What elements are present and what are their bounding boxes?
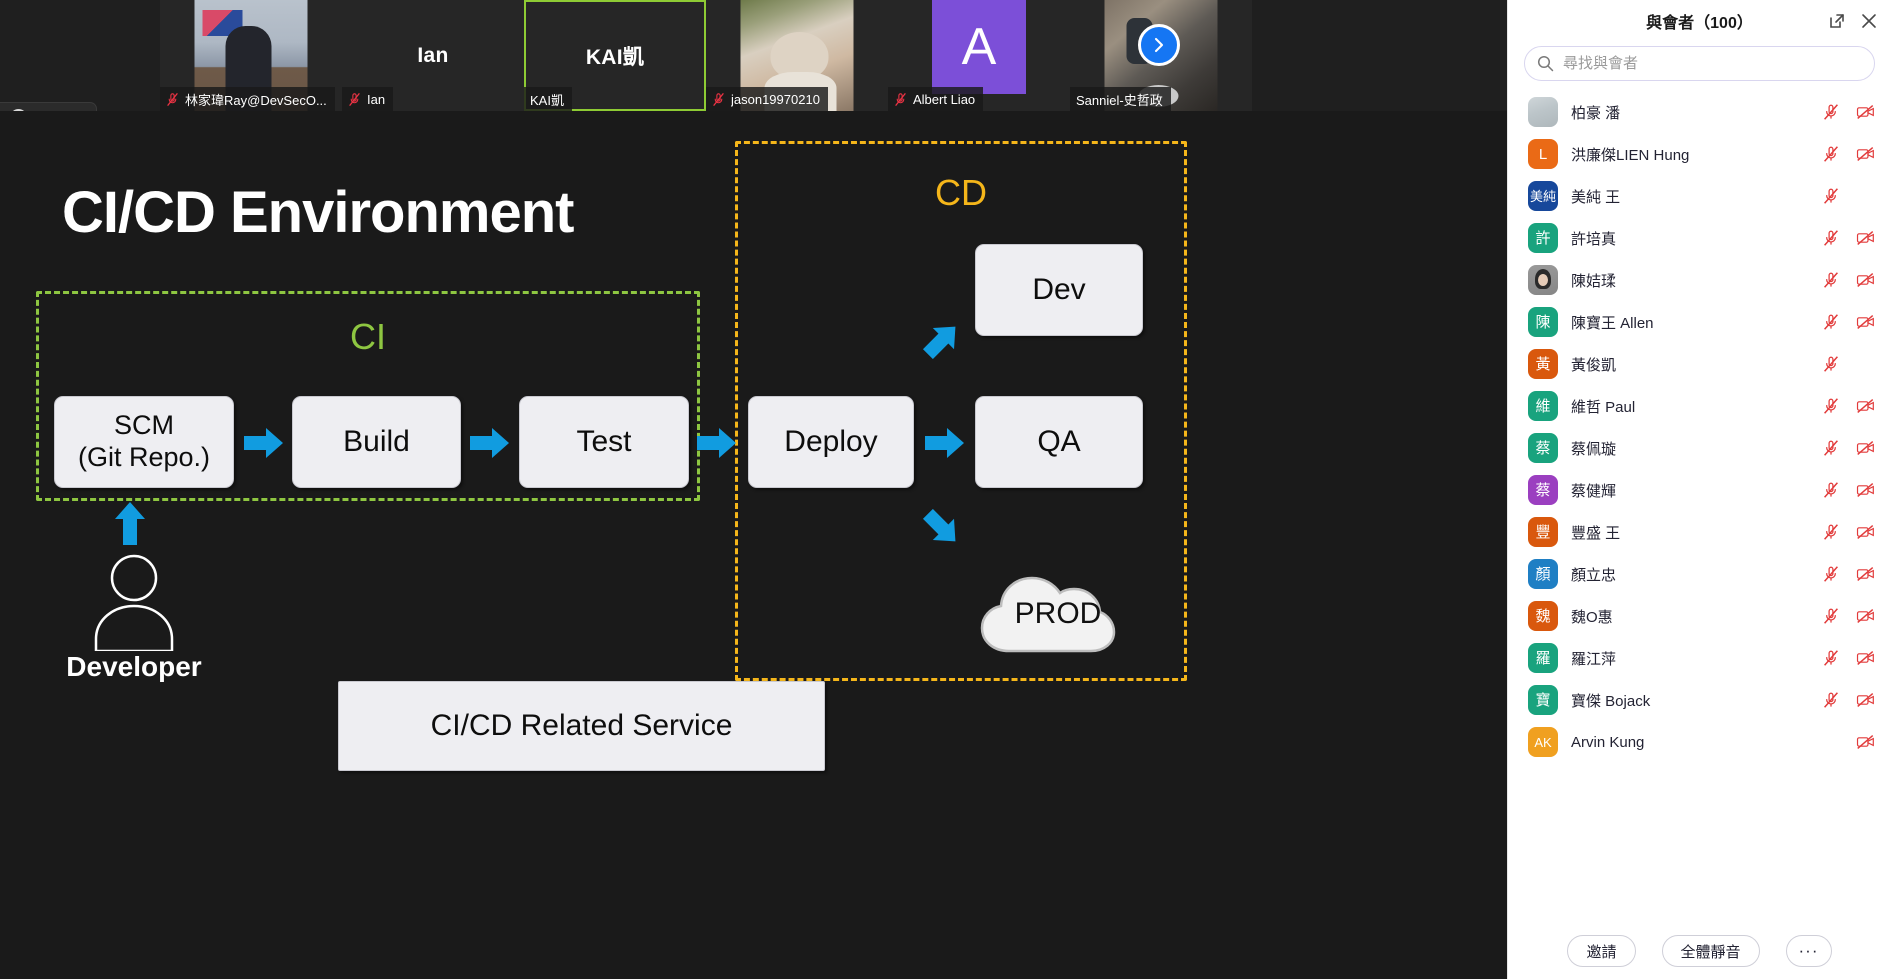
node-scm: SCM (Git Repo.) bbox=[54, 396, 234, 488]
mic-off-icon[interactable] bbox=[1821, 229, 1840, 248]
chevron-right-icon bbox=[1150, 36, 1168, 54]
popout-icon[interactable] bbox=[1827, 11, 1847, 31]
mic-off-icon[interactable] bbox=[1821, 187, 1840, 206]
participant-row[interactable]: 陳姞瑈 bbox=[1508, 259, 1891, 301]
participant-status-icons bbox=[1819, 565, 1875, 584]
thumbnail-name-3: jason19970210 bbox=[731, 92, 820, 107]
participant-avatar: 蔡 bbox=[1528, 433, 1558, 463]
participant-status-icons bbox=[1819, 187, 1875, 206]
participant-row[interactable]: 許許培真 bbox=[1508, 217, 1891, 259]
participant-name: 陳姞瑈 bbox=[1571, 270, 1806, 291]
node-prod-cloud: PROD bbox=[963, 555, 1153, 665]
mic-off-icon[interactable] bbox=[1821, 355, 1840, 374]
participant-row[interactable]: AKArvin Kung bbox=[1508, 721, 1891, 763]
participant-name: 魏O惠 bbox=[1571, 606, 1806, 627]
participant-avatar: 顏 bbox=[1528, 559, 1558, 589]
video-off-icon[interactable] bbox=[1856, 229, 1875, 248]
video-off-icon[interactable] bbox=[1856, 313, 1875, 332]
thumbnail-label-0: 林家瑋Ray@DevSecO... bbox=[160, 87, 335, 111]
video-thumbnail-4[interactable]: A Albert Liao bbox=[888, 0, 1070, 111]
video-off-icon[interactable] bbox=[1856, 103, 1875, 122]
thumbnail-name-0: 林家瑋Ray@DevSecO... bbox=[185, 90, 327, 109]
mute-all-button[interactable]: 全體靜音 bbox=[1662, 935, 1760, 967]
participant-avatar: 豐 bbox=[1528, 517, 1558, 547]
participant-status-icons bbox=[1819, 397, 1875, 416]
participant-name: 美純 王 bbox=[1571, 186, 1806, 207]
thumbnail-label-5: Sanniel-史哲政 bbox=[1070, 87, 1171, 111]
mic-off-icon[interactable] bbox=[1821, 397, 1840, 416]
participant-row[interactable]: 魏魏O惠 bbox=[1508, 595, 1891, 637]
node-test: Test bbox=[519, 396, 689, 488]
participant-avatar: L bbox=[1528, 139, 1558, 169]
person-icon bbox=[88, 551, 180, 651]
mic-off-icon[interactable] bbox=[1821, 103, 1840, 122]
participant-row[interactable]: 蔡蔡健輝 bbox=[1508, 469, 1891, 511]
mic-off-icon[interactable] bbox=[1821, 607, 1840, 626]
participant-avatar: 黃 bbox=[1528, 349, 1558, 379]
video-thumbnail-3[interactable]: jason19970210 bbox=[706, 0, 888, 111]
close-icon[interactable] bbox=[1859, 11, 1879, 31]
cd-group-label: CD bbox=[738, 172, 1184, 214]
participant-avatar: 魏 bbox=[1528, 601, 1558, 631]
participant-row[interactable]: 美純美純 王 bbox=[1508, 175, 1891, 217]
arrow-developer-to-scm-icon bbox=[113, 501, 147, 545]
developer-label: Developer bbox=[56, 651, 212, 683]
participant-name: 黃俊凱 bbox=[1571, 354, 1806, 375]
participant-row[interactable]: L洪廉傑LIEN Hung bbox=[1508, 133, 1891, 175]
arrow-test-to-deploy-icon bbox=[697, 426, 737, 460]
mic-off-icon bbox=[166, 92, 179, 107]
participants-search-box[interactable] bbox=[1524, 46, 1875, 81]
search-icon bbox=[1537, 55, 1554, 72]
thumbnail-label-4: Albert Liao bbox=[888, 87, 983, 111]
video-off-icon[interactable] bbox=[1856, 565, 1875, 584]
participant-status-icons bbox=[1819, 649, 1875, 668]
video-off-icon[interactable] bbox=[1856, 439, 1875, 458]
video-placeholder bbox=[1856, 355, 1875, 374]
participant-row[interactable]: 寶寶傑 Bojack bbox=[1508, 679, 1891, 721]
node-deploy: Deploy bbox=[748, 396, 914, 488]
video-off-icon[interactable] bbox=[1856, 691, 1875, 710]
participant-row[interactable]: 陳陳寶王 Allen bbox=[1508, 301, 1891, 343]
node-prod-label: PROD bbox=[963, 597, 1153, 631]
participant-status-icons bbox=[1819, 733, 1875, 752]
video-thumbnail-1[interactable]: Ian Ian bbox=[342, 0, 524, 111]
video-off-icon[interactable] bbox=[1856, 271, 1875, 290]
participant-avatar: 蔡 bbox=[1528, 475, 1558, 505]
participant-name: 豐盛 王 bbox=[1571, 522, 1806, 543]
participant-row[interactable]: 蔡蔡佩璇 bbox=[1508, 427, 1891, 469]
participant-name: 柏豪 潘 bbox=[1571, 102, 1806, 123]
participant-row[interactable]: 黃黃俊凱 bbox=[1508, 343, 1891, 385]
participant-avatar: 美純 bbox=[1528, 181, 1558, 211]
mic-off-icon bbox=[894, 92, 907, 107]
video-off-icon[interactable] bbox=[1856, 481, 1875, 500]
participant-name: 洪廉傑LIEN Hung bbox=[1571, 144, 1806, 165]
participant-status-icons bbox=[1819, 271, 1875, 290]
participant-avatar bbox=[1528, 265, 1558, 295]
participant-name: 陳寶王 Allen bbox=[1571, 312, 1806, 333]
participants-panel-title: 與會者（100） bbox=[1646, 9, 1753, 33]
invite-button[interactable]: 邀請 bbox=[1567, 935, 1635, 967]
node-dev: Dev bbox=[975, 244, 1143, 336]
slide-title: CI/CD Environment bbox=[62, 179, 574, 246]
participant-status-icons bbox=[1819, 523, 1875, 542]
thumbnail-label-2: KAI凱 bbox=[524, 87, 572, 111]
thumbnail-display-name-2: KAI凱 bbox=[586, 41, 644, 71]
mic-off-icon bbox=[712, 92, 725, 107]
mic-off-icon[interactable] bbox=[1821, 271, 1840, 290]
participant-status-icons bbox=[1819, 481, 1875, 500]
participant-status-icons bbox=[1819, 691, 1875, 710]
video-thumbnail-2[interactable]: KAI凱 KAI凱 bbox=[524, 0, 706, 111]
participant-row[interactable]: 柏豪 潘 bbox=[1508, 91, 1891, 133]
node-scm-line2: (Git Repo.) bbox=[78, 442, 210, 474]
thumbnail-label-1: Ian bbox=[342, 87, 393, 111]
arrow-deploy-to-qa-icon bbox=[925, 426, 965, 460]
node-build: Build bbox=[292, 396, 461, 488]
thumbnail-name-1: Ian bbox=[367, 92, 385, 107]
video-off-icon[interactable] bbox=[1856, 649, 1875, 668]
video-off-icon[interactable] bbox=[1856, 607, 1875, 626]
participants-search-wrapper bbox=[1508, 42, 1891, 91]
more-options-button[interactable]: ··· bbox=[1786, 935, 1832, 967]
video-thumbnail-strip: 林家瑋Ray@DevSecO... Ian Ian KAI凱 KAI凱 bbox=[0, 0, 1507, 111]
video-placeholder bbox=[1856, 187, 1875, 206]
mic-off-icon[interactable] bbox=[1821, 145, 1840, 164]
mic-off-icon[interactable] bbox=[1821, 439, 1840, 458]
mic-off-icon[interactable] bbox=[1821, 565, 1840, 584]
participant-avatar: 許 bbox=[1528, 223, 1558, 253]
participant-name: Arvin Kung bbox=[1571, 734, 1806, 751]
thumbnail-display-name-1: Ian bbox=[417, 44, 448, 68]
participant-status-icons bbox=[1819, 229, 1875, 248]
participant-row[interactable]: 顏顏立忠 bbox=[1508, 553, 1891, 595]
video-off-icon[interactable] bbox=[1856, 733, 1875, 752]
participant-name: 顏立忠 bbox=[1571, 564, 1806, 585]
participant-avatar bbox=[1528, 97, 1558, 127]
participant-name: 維哲 Paul bbox=[1571, 396, 1806, 417]
strip-left-spacer bbox=[0, 0, 160, 111]
participant-row[interactable]: 羅羅江萍 bbox=[1508, 637, 1891, 679]
participant-status-icons bbox=[1819, 607, 1875, 626]
participant-avatar: 羅 bbox=[1528, 643, 1558, 673]
mic-off-icon[interactable] bbox=[1821, 649, 1840, 668]
participant-avatar: 陳 bbox=[1528, 307, 1558, 337]
participant-name: 羅江萍 bbox=[1571, 648, 1806, 669]
participant-avatar: 寶 bbox=[1528, 685, 1558, 715]
node-cicd-related-service: CI/CD Related Service bbox=[338, 681, 825, 771]
participants-list[interactable]: 柏豪 潘L洪廉傑LIEN Hung美純美純 王許許培真陳姞瑈陳陳寶王 Allen… bbox=[1508, 91, 1891, 923]
participants-panel-header: 與會者（100） bbox=[1508, 0, 1891, 42]
participants-footer: 邀請 全體靜音 ··· bbox=[1508, 923, 1891, 979]
search-input[interactable] bbox=[1563, 55, 1862, 72]
participant-status-icons bbox=[1819, 145, 1875, 164]
mic-off-icon[interactable] bbox=[1821, 523, 1840, 542]
participant-status-icons bbox=[1819, 355, 1875, 374]
thumbnail-name-4: Albert Liao bbox=[913, 92, 975, 107]
participant-avatar-letter: A bbox=[932, 0, 1026, 94]
node-qa: QA bbox=[975, 396, 1143, 488]
zoom-meeting-window: 林家瑋Ray@DevSecO... Ian Ian KAI凱 KAI凱 bbox=[0, 0, 1891, 979]
participants-panel: 與會者（100） 柏豪 潘L洪廉傑LIEN Hung美純美純 王許許培真陳姞瑈陳… bbox=[1507, 0, 1891, 979]
thumbnail-label-3: jason19970210 bbox=[706, 87, 828, 111]
video-off-icon[interactable] bbox=[1856, 145, 1875, 164]
participant-avatar: 維 bbox=[1528, 391, 1558, 421]
participant-name: 蔡佩璇 bbox=[1571, 438, 1806, 459]
meeting-area: 林家瑋Ray@DevSecO... Ian Ian KAI凱 KAI凱 bbox=[0, 0, 1507, 979]
thumbnail-name-5: Sanniel-史哲政 bbox=[1076, 90, 1163, 109]
participant-name: 許培真 bbox=[1571, 228, 1806, 249]
next-page-button[interactable] bbox=[1138, 24, 1180, 66]
participant-status-icons bbox=[1819, 313, 1875, 332]
node-scm-line1: SCM bbox=[78, 410, 210, 442]
participant-name: 蔡健輝 bbox=[1571, 480, 1806, 501]
participant-avatar: AK bbox=[1528, 727, 1558, 757]
ci-group-label: CI bbox=[39, 316, 697, 358]
mic-off-icon[interactable] bbox=[1821, 481, 1840, 500]
participant-row[interactable]: 維維哲 Paul bbox=[1508, 385, 1891, 427]
mic-off-icon[interactable] bbox=[1821, 313, 1840, 332]
participant-status-icons bbox=[1819, 439, 1875, 458]
participant-status-icons bbox=[1819, 103, 1875, 122]
mic-off-icon bbox=[348, 92, 361, 107]
mic-off-icon[interactable] bbox=[1821, 691, 1840, 710]
video-thumbnail-0[interactable]: 林家瑋Ray@DevSecO... bbox=[160, 0, 342, 111]
video-off-icon[interactable] bbox=[1856, 397, 1875, 416]
mic-placeholder bbox=[1821, 733, 1840, 752]
video-off-icon[interactable] bbox=[1856, 523, 1875, 542]
thumbnail-name-2: KAI凱 bbox=[530, 90, 564, 109]
participant-name: 寶傑 Bojack bbox=[1571, 690, 1806, 711]
participant-row[interactable]: 豐豐盛 王 bbox=[1508, 511, 1891, 553]
shared-screen-slide: CI/CD Environment CI CD SCM (Git Repo.) … bbox=[0, 111, 1507, 979]
arrow-build-to-test-icon bbox=[470, 426, 510, 460]
arrow-scm-to-build-icon bbox=[244, 426, 284, 460]
